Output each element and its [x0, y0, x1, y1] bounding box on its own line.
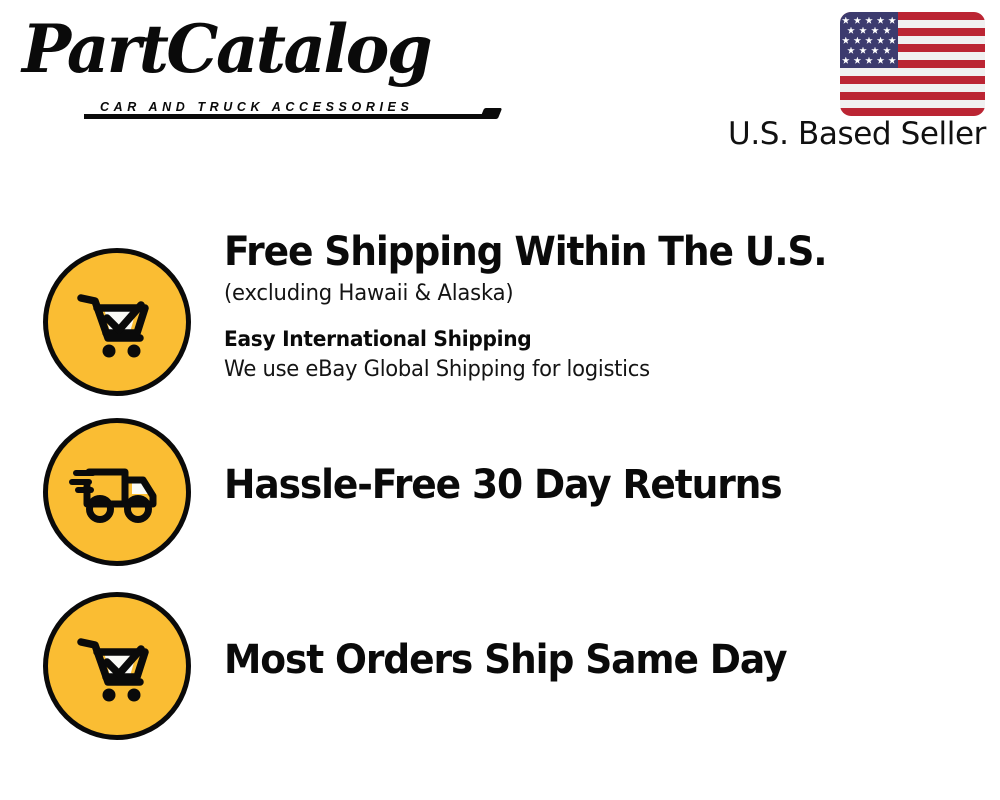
flag-star	[888, 17, 896, 25]
feature-title: Hassle-Free 30 Day Returns	[224, 463, 944, 508]
page-header: PartCatalog CAR AND TRUCK ACCESSORIES	[0, 0, 1000, 170]
flag-star	[883, 47, 891, 55]
flag-star	[859, 47, 867, 55]
flag-star	[842, 57, 850, 65]
brand-wordmark: PartCatalog	[22, 16, 430, 82]
flag-star	[871, 27, 879, 35]
flag-canton	[840, 12, 898, 68]
brand-tagline: CAR AND TRUCK ACCESSORIES	[100, 100, 413, 114]
flag-star-row	[840, 55, 898, 66]
feature-row: Most Orders Ship Same Day	[0, 590, 1000, 745]
flag-star	[871, 47, 879, 55]
flag-star	[847, 27, 855, 35]
flag-star	[847, 47, 855, 55]
flag-stripe	[840, 92, 985, 100]
flag-star	[883, 27, 891, 35]
brand-logo[interactable]: PartCatalog CAR AND TRUCK ACCESSORIES	[22, 22, 492, 117]
flag-star	[842, 37, 850, 45]
feature-row: Hassle-Free 30 Day Returns	[0, 418, 1000, 573]
flag-stripe	[840, 68, 985, 76]
delivery-truck-icon	[43, 418, 191, 566]
feature-secondary-note: We use eBay Global Shipping for logistic…	[224, 356, 959, 385]
us-flag-icon	[840, 12, 985, 116]
cart-check-glyph	[67, 616, 167, 716]
flag-star	[859, 27, 867, 35]
us-based-seller-label: U.S. Based Seller	[0, 116, 1000, 152]
flag-star	[888, 37, 896, 45]
flag-star	[877, 57, 885, 65]
flag-star	[853, 17, 861, 25]
feature-text-block: Most Orders Ship Same Day	[224, 638, 990, 683]
feature-text-block: Hassle-Free 30 Day Returns	[224, 463, 990, 508]
flag-stripe	[840, 108, 985, 116]
flag-stripe	[840, 84, 985, 92]
feature-text-block: Free Shipping Within The U.S. (excluding…	[224, 230, 990, 384]
shopping-cart-check-icon	[43, 592, 191, 740]
feature-title: Free Shipping Within The U.S.	[224, 230, 944, 275]
feature-row: Free Shipping Within The U.S. (excluding…	[0, 230, 1000, 405]
shopping-cart-check-icon	[43, 248, 191, 396]
flag-star	[888, 57, 896, 65]
feature-title: Most Orders Ship Same Day	[224, 638, 944, 683]
flag-star	[865, 57, 873, 65]
us-flag-graphic	[840, 12, 985, 116]
flag-stripe	[840, 76, 985, 84]
cart-check-glyph	[67, 272, 167, 372]
flag-star	[877, 37, 885, 45]
flag-star	[865, 37, 873, 45]
flag-star	[842, 17, 850, 25]
feature-subtitle: (excluding Hawaii & Alaska)	[224, 280, 959, 309]
flag-star	[865, 17, 873, 25]
flag-star	[853, 37, 861, 45]
delivery-truck-glyph	[67, 442, 167, 542]
flag-star	[853, 57, 861, 65]
flag-star	[877, 17, 885, 25]
flag-stripe	[840, 100, 985, 108]
feature-secondary-title: Easy International Shipping	[224, 326, 959, 353]
